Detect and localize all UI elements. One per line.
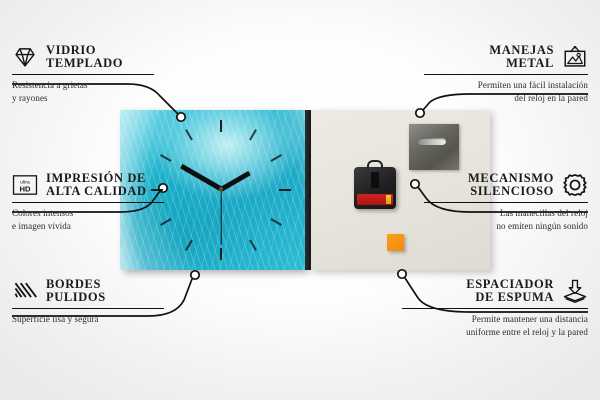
callout-manejas-metal: MANEJAS METAL Permiten una fácil instala… [424,44,588,104]
title-line-2: METAL [489,57,554,70]
anchor-dot-bordes [191,271,199,279]
callout-rule [12,74,154,76]
title-line-2: DE ESPUMA [466,291,554,304]
gear-icon [562,172,588,198]
callout-title: MECANISMO SILENCIOSO [468,172,554,199]
callout-description: Permite mantener una distanciauniforme e… [402,313,588,338]
callout-title-row: ESPACIADOR DE ESPUMA [402,278,588,305]
infographic-canvas: VIDRIO TEMPLADO Resistencia a grietasy r… [0,0,600,400]
callout-title-row: VIDRIO TEMPLADO [12,44,154,71]
hour-tick [271,218,282,226]
svg-text:HD: HD [19,185,31,194]
callout-rule [12,308,164,310]
hanger-slot [418,138,446,145]
clock-face-glass-panel [120,110,305,270]
title-line-2: SILENCIOSO [468,185,554,198]
diamond-icon [12,44,38,70]
anchor-dot-espaciador [398,270,406,278]
battery [357,194,393,205]
title-line-1: ESPACIADOR [466,278,554,291]
callout-title: MANEJAS METAL [489,44,554,71]
movement-shaft [371,172,379,188]
hour-tick [160,154,171,162]
clock-center-pin [219,187,223,191]
callout-rule [424,74,588,76]
ultra-hd-icon: ultra HD [12,172,38,198]
hour-tick [279,189,291,191]
hour-tick [220,248,222,260]
title-line-2: TEMPLADO [46,57,123,70]
hour-tick [185,240,193,251]
callout-bordes-pulidos: BORDES PULIDOS Superficie lisa y segura [12,278,164,326]
hour-tick [160,218,171,226]
second-hand [220,189,221,245]
callout-title: BORDES PULIDOS [46,278,106,305]
callout-description: Superficie lisa y segura [12,313,164,325]
hour-hand [220,170,251,191]
hour-tick [185,129,193,140]
title-line-1: MANEJAS [489,44,554,57]
callout-description: Permiten una fácil instalacióndel reloj … [424,79,588,104]
quartz-movement [354,167,396,209]
polished-edges-icon [12,278,38,304]
callout-mecanismo-silencioso: MECANISMO SILENCIOSO Las manecillas del … [424,172,588,232]
callout-vidrio-templado: VIDRIO TEMPLADO Resistencia a grietasy r… [12,44,154,104]
hanging-frame-icon [562,44,588,70]
hour-tick [271,154,282,162]
callout-title-row: BORDES PULIDOS [12,278,164,305]
title-line-1: MECANISMO [468,172,554,185]
metal-hanger-plate [409,124,459,170]
clock-dial [120,110,305,270]
callout-espaciador-de-espuma: ESPACIADOR DE ESPUMA Permite mantener un… [402,278,588,338]
minute-hand [180,164,222,191]
title-line-1: BORDES [46,278,106,291]
callout-description: Resistencia a grietasy rayones [12,79,154,104]
callout-title-row: MANEJAS METAL [424,44,588,71]
callout-description: Las manecillas del relojno emiten ningún… [424,207,588,232]
foam-spacer [387,234,404,251]
callout-rule [402,308,588,310]
title-line-2: PULIDOS [46,291,106,304]
callout-title: ESPACIADOR DE ESPUMA [466,278,554,305]
hour-tick [249,240,257,251]
callout-rule [424,202,588,204]
movement-bail [367,160,383,169]
hour-tick [151,189,163,191]
callout-title: VIDRIO TEMPLADO [46,44,123,71]
callout-title-row: MECANISMO SILENCIOSO [424,172,588,199]
hour-tick [220,120,222,132]
title-line-1: VIDRIO [46,44,123,57]
foam-spacer-icon [562,278,588,304]
hour-tick [249,129,257,140]
